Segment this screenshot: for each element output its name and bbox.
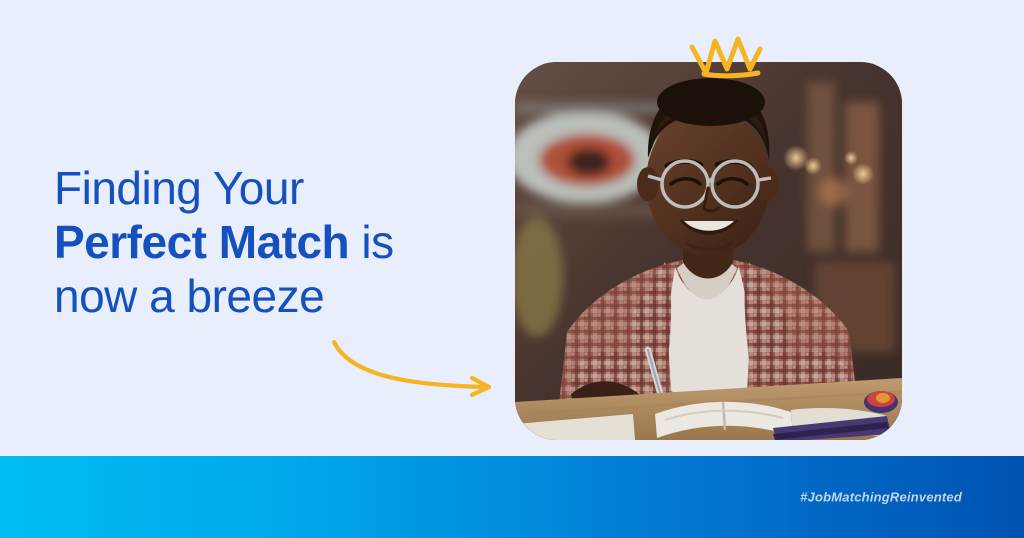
hashtag-label: #JobMatchingReinvented — [800, 490, 962, 505]
headline-line-1-text: Finding Your — [54, 162, 304, 214]
marketing-banner: Finding Your Perfect Match is now a bree… — [0, 0, 1024, 538]
headline-line-3-text: now a breeze — [54, 270, 324, 322]
headline-line-3: now a breeze — [54, 270, 484, 324]
headline-emphasis-text: Perfect Match — [54, 216, 349, 268]
bottom-gradient-bar: #JobMatchingReinvented — [0, 456, 1024, 538]
headline-line-1: Finding Your — [54, 162, 484, 216]
headline-block: Finding Your Perfect Match is now a bree… — [54, 162, 484, 323]
headline-line-2: Perfect Match is — [54, 216, 484, 270]
hero-photo — [515, 62, 902, 440]
curved-arrow-icon — [330, 336, 505, 398]
headline-line-2-suffix: is — [349, 216, 394, 268]
